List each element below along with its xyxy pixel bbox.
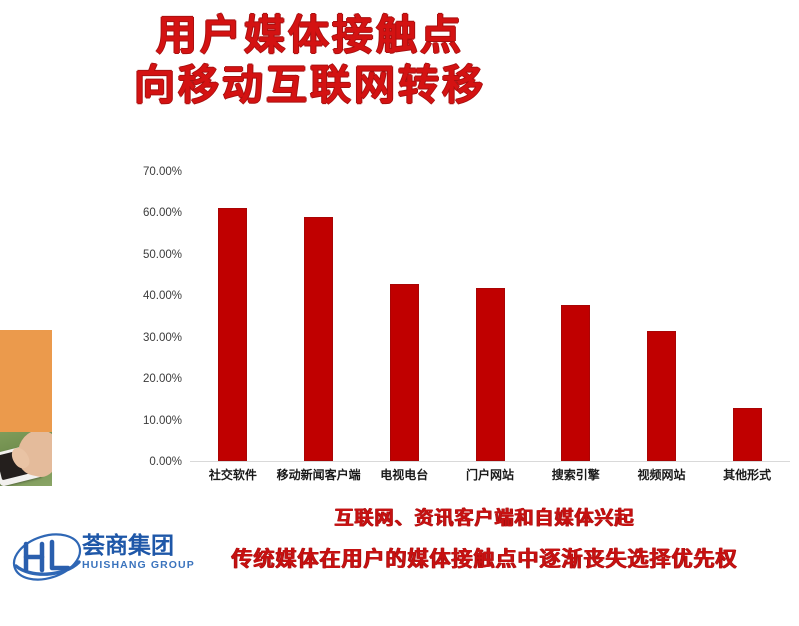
logo-text-cn: 荟商集团 (82, 532, 198, 558)
bar-column (704, 172, 790, 461)
y-axis-tick: 70.00% (128, 166, 182, 178)
footer-line-1: 互联网、资讯客户端和自媒体兴起 (170, 505, 799, 533)
bar (304, 217, 333, 461)
y-axis-tick: 30.00% (128, 332, 182, 344)
bar-column (190, 172, 276, 461)
y-axis-tick: 60.00% (128, 207, 182, 219)
x-axis: 社交软件移动新闻客户端电视电台门户网站搜索引擎视频网站其他形式 (190, 466, 790, 483)
bar-column (533, 172, 619, 461)
x-axis-label: 电视电台 (361, 466, 447, 483)
y-axis-tick: 40.00% (128, 290, 182, 302)
x-axis-label: 门户网站 (447, 466, 533, 483)
bar-chart: 70.00%60.00%50.00%40.00%30.00%20.00%10.0… (128, 172, 790, 484)
orange-band (0, 330, 52, 432)
footer-captions: 互联网、资讯客户端和自媒体兴起 传统媒体在用户的媒体接触点中逐渐丧失选择优先权 (170, 505, 799, 577)
bar (733, 408, 762, 461)
bar (561, 305, 590, 461)
photo-hand-phone (0, 432, 52, 486)
y-axis-tick: 10.00% (128, 415, 182, 427)
bar-column (276, 172, 362, 461)
company-logo: 荟商集团 HUISHANG GROUP (10, 530, 198, 586)
y-axis-tick: 0.00% (128, 456, 182, 468)
side-photo-smartphone (0, 330, 52, 486)
x-axis-label: 搜索引擎 (533, 466, 619, 483)
bar (218, 208, 247, 461)
x-axis-label: 视频网站 (619, 466, 705, 483)
bar-column (447, 172, 533, 461)
footer-line-2: 传统媒体在用户的媒体接触点中逐渐丧失选择优先权 (170, 543, 799, 577)
bar (390, 284, 419, 461)
y-axis-tick: 50.00% (128, 249, 182, 261)
logo-text-en: HUISHANG GROUP (82, 558, 198, 572)
y-axis: 70.00%60.00%50.00%40.00%30.00%20.00%10.0… (128, 172, 182, 462)
title-line-1: 用户媒体接触点 (0, 10, 620, 60)
x-axis-label: 其他形式 (704, 466, 790, 483)
logo-text: 荟商集团 HUISHANG GROUP (82, 532, 198, 572)
page-title: 用户媒体接触点 向移动互联网转移 (0, 10, 620, 110)
bar (476, 288, 505, 461)
slide-canvas: 用户媒体接触点 向移动互联网转移 70.00%60.00%50.00%40.00… (0, 0, 799, 626)
x-axis-label: 社交软件 (190, 466, 276, 483)
y-axis-tick: 20.00% (128, 373, 182, 385)
plot-area (190, 172, 790, 462)
bar (647, 331, 676, 462)
bar-column (361, 172, 447, 461)
bar-column (619, 172, 705, 461)
x-axis-label: 移动新闻客户端 (276, 466, 362, 483)
title-line-2: 向移动互联网转移 (0, 60, 620, 110)
logo-monogram-icon (10, 532, 84, 582)
